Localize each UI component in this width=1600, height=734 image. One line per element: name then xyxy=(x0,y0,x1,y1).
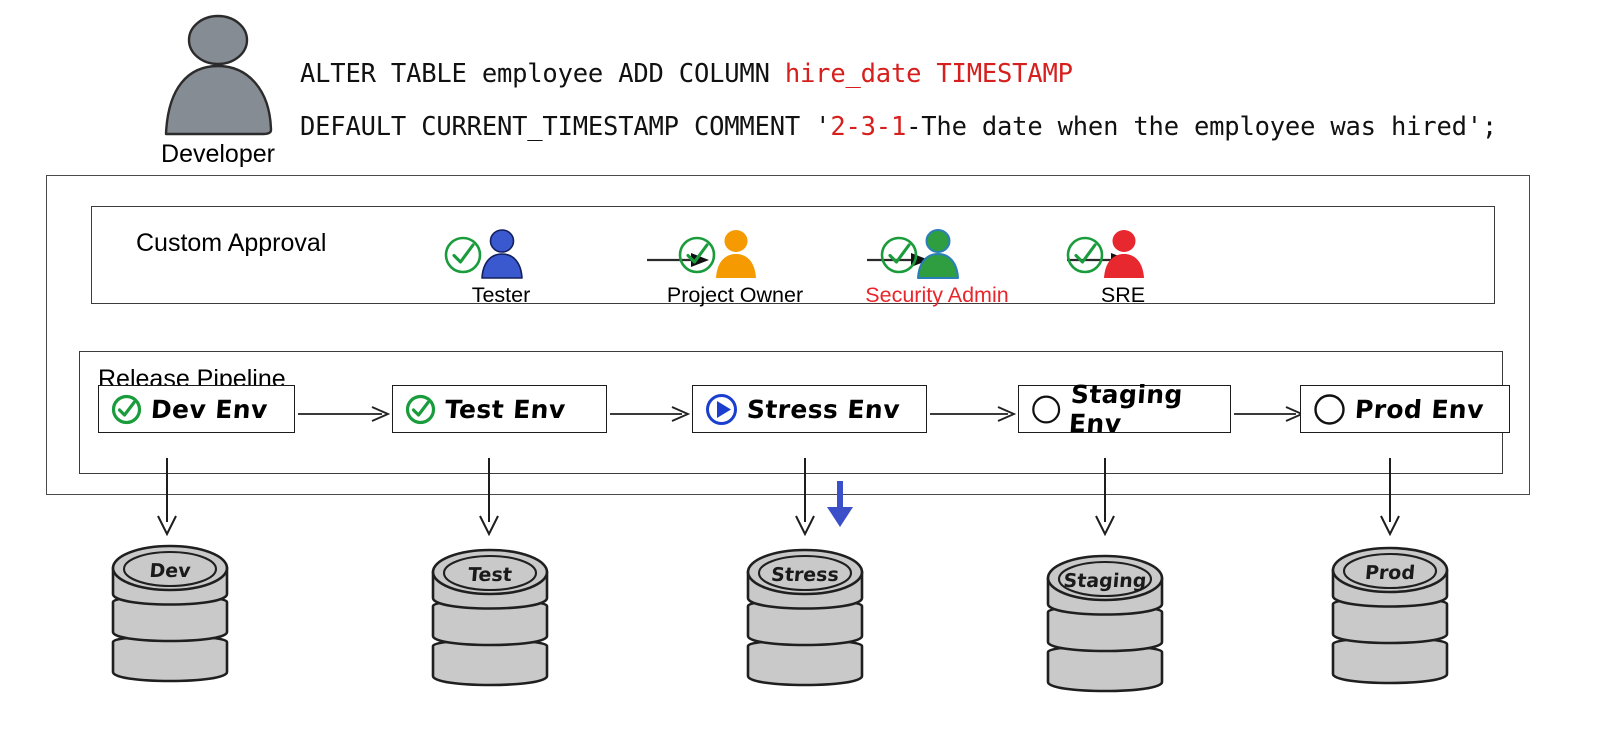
database-cylinder-icon xyxy=(690,534,920,694)
approver-chain: Tester xyxy=(92,207,1494,303)
play-circle-icon xyxy=(705,393,738,426)
check-circle-icon xyxy=(1065,235,1105,275)
empty-circle-icon xyxy=(1031,393,1061,426)
pipeline-stage-label: Staging Env xyxy=(1068,380,1232,438)
pipeline-stage-dev-env[interactable]: Dev Env xyxy=(98,385,295,433)
sql-line-1-highlight: hire_date TIMESTAMP xyxy=(785,59,1073,89)
pipeline-stage-label: Dev Env xyxy=(150,395,269,424)
database-label: Prod xyxy=(1274,562,1506,584)
approver-label: Project Owner xyxy=(650,283,820,308)
check-circle-icon xyxy=(677,235,717,275)
check-circle-icon xyxy=(879,235,919,275)
person-icon-sre xyxy=(1100,229,1148,279)
diagram-canvas: Developer ALTER TABLE employee ADD COLUM… xyxy=(0,0,1600,734)
person-icon-security-admin xyxy=(914,229,962,279)
empty-circle-icon xyxy=(1313,393,1346,426)
custom-approval-panel: Custom Approval Tester xyxy=(91,206,1495,304)
database-label: Dev xyxy=(54,560,286,582)
sql-line-2-tail: -The date when the employee was hired'; xyxy=(906,112,1497,142)
database-staging[interactable]: Staging xyxy=(990,540,1220,705)
check-circle-icon xyxy=(405,394,436,425)
approver-icons xyxy=(416,229,586,281)
database-dev[interactable]: Dev xyxy=(55,530,285,695)
sql-line-1-plain: ALTER TABLE employee ADD COLUMN xyxy=(300,59,785,89)
user-silhouette-icon xyxy=(158,14,278,136)
pipeline-arrow-2 xyxy=(610,406,690,422)
database-cylinder-icon xyxy=(1275,532,1505,692)
approver-icons xyxy=(852,229,1022,281)
pipeline-stage-prod-env[interactable]: Prod Env xyxy=(1300,385,1510,433)
sql-statement: ALTER TABLE employee ADD COLUMN hire_dat… xyxy=(300,48,1480,154)
sql-line-1: ALTER TABLE employee ADD COLUMN hire_dat… xyxy=(300,48,1480,101)
pipeline-stage-stress-env[interactable]: Stress Env xyxy=(692,385,927,433)
release-pipeline-panel: Release Pipeline Dev Env Test Env xyxy=(79,351,1503,474)
pipeline-stage-label: Stress Env xyxy=(746,395,901,424)
approver-label: Tester xyxy=(416,283,586,308)
sql-line-2: DEFAULT CURRENT_TIMESTAMP COMMENT '2-3-1… xyxy=(300,101,1480,154)
release-flow-container: Custom Approval Tester xyxy=(46,175,1530,495)
approver-security-admin[interactable]: Security Admin xyxy=(852,229,1022,308)
database-label: Staging xyxy=(989,570,1221,592)
deploy-arrow-stress xyxy=(790,458,820,538)
database-prod[interactable]: Prod xyxy=(1275,532,1505,697)
approver-icons xyxy=(650,229,820,281)
database-stress[interactable]: Stress xyxy=(690,534,920,699)
database-label: Stress xyxy=(689,564,921,586)
approver-sre[interactable]: SRE xyxy=(1038,229,1208,308)
pipeline-arrow-3 xyxy=(930,406,1016,422)
approver-label: SRE xyxy=(1038,283,1208,308)
database-cylinder-icon xyxy=(990,540,1220,700)
database-cylinder-icon xyxy=(375,534,605,694)
sql-line-2-plain: DEFAULT CURRENT_TIMESTAMP COMMENT ' xyxy=(300,112,830,142)
sql-line-2-highlight: 2-3-1 xyxy=(830,112,906,142)
person-icon-project-owner xyxy=(712,229,760,279)
database-label: Test xyxy=(374,564,606,586)
approver-tester[interactable]: Tester xyxy=(416,229,586,308)
pipeline-stage-staging-env[interactable]: Staging Env xyxy=(1018,385,1231,433)
check-circle-icon xyxy=(443,235,483,275)
pipeline-arrow-1 xyxy=(298,406,390,422)
approver-label: Security Admin xyxy=(852,283,1022,308)
developer-actor: Developer xyxy=(148,14,288,174)
database-test[interactable]: Test xyxy=(375,534,605,699)
developer-label: Developer xyxy=(148,140,288,169)
deploy-arrow-staging xyxy=(1090,458,1120,538)
pipeline-arrow-4 xyxy=(1234,406,1304,422)
check-circle-icon xyxy=(111,394,142,425)
pipeline-stage-label: Prod Env xyxy=(1354,395,1485,424)
deploy-arrow-dev xyxy=(152,458,182,538)
approver-icons xyxy=(1038,229,1208,281)
deploy-arrow-test xyxy=(474,458,504,538)
pipeline-stage-label: Test Env xyxy=(444,395,567,424)
blue-down-arrow xyxy=(822,481,858,529)
database-cylinder-icon xyxy=(55,530,285,690)
pipeline-stage-test-env[interactable]: Test Env xyxy=(392,385,607,433)
approver-project-owner[interactable]: Project Owner xyxy=(650,229,820,308)
person-icon-tester xyxy=(478,229,526,279)
deploy-arrow-prod xyxy=(1375,458,1405,538)
